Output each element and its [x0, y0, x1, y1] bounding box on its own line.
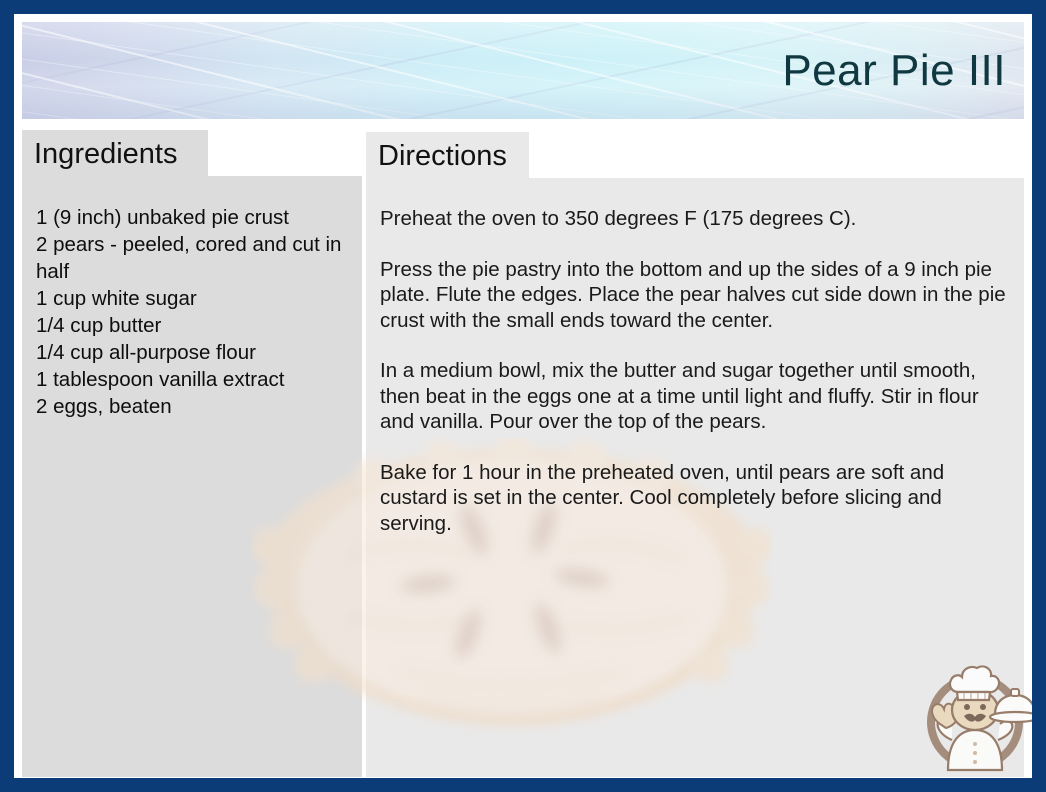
- list-item: 1/4 cup butter: [36, 312, 348, 339]
- direction-step: Bake for 1 hour in the preheated oven, u…: [380, 460, 1008, 537]
- list-item: 1 (9 inch) unbaked pie crust: [36, 204, 348, 231]
- directions-heading-label: Directions: [378, 140, 507, 172]
- ingredients-heading-label: Ingredients: [34, 138, 178, 170]
- list-item: 1 tablespoon vanilla extract: [36, 366, 348, 393]
- list-item: 2 eggs, beaten: [36, 393, 348, 420]
- direction-step: In a medium bowl, mix the butter and sug…: [380, 358, 1008, 435]
- chef-mascot-logo: [912, 652, 1032, 778]
- directions-steps: Preheat the oven to 350 degrees F (175 d…: [366, 178, 1024, 536]
- header-banner: Pear Pie III: [22, 22, 1024, 119]
- ingredients-list: 1 (9 inch) unbaked pie crust 2 pears - p…: [22, 176, 362, 420]
- list-item: 1/4 cup all-purpose flour: [36, 339, 348, 366]
- page-title: Pear Pie III: [782, 49, 1006, 93]
- direction-step: Press the pie pastry into the bottom and…: [380, 257, 1008, 334]
- directions-heading-tab: Directions: [366, 132, 529, 178]
- ingredients-panel: 1 (9 inch) unbaked pie crust 2 pears - p…: [22, 176, 362, 777]
- list-item: 1 cup white sugar: [36, 285, 348, 312]
- direction-step: Preheat the oven to 350 degrees F (175 d…: [380, 206, 1008, 232]
- recipe-card: Pear Pie III Ingredients 1 (9 inch) unba…: [14, 14, 1032, 778]
- ingredients-heading-tab: Ingredients: [22, 130, 208, 176]
- list-item: 2 pears - peeled, cored and cut in half: [36, 231, 348, 285]
